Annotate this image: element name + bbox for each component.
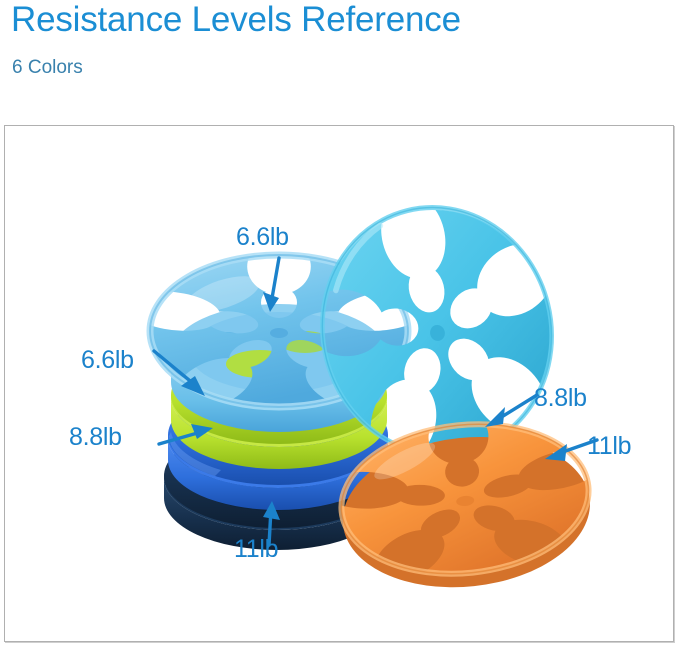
callout-label-left-66lb: 6.6lb	[81, 346, 134, 374]
figure-stage: 6.6lb 8.8lb 6.6lb 8.8lb 11lb 1	[5, 126, 673, 641]
callout-label-left-88lb: 8.8lb	[69, 423, 122, 451]
product-image-frame: 6.6lb 8.8lb 6.6lb 8.8lb 11lb 1	[4, 125, 674, 642]
page-subtitle: 6 Colors	[12, 55, 83, 81]
callout-label-right-88lb: 8.8lb	[534, 384, 587, 412]
page-header: Resistance Levels Reference 6 Colors	[0, 0, 679, 118]
callout-label-right-11lb: 11lb	[587, 432, 631, 460]
page-title: Resistance Levels Reference	[11, 0, 461, 42]
callout-label-bottom-11lb: 11lb	[234, 535, 278, 563]
callout-label-top-66lb: 6.6lb	[236, 223, 289, 251]
